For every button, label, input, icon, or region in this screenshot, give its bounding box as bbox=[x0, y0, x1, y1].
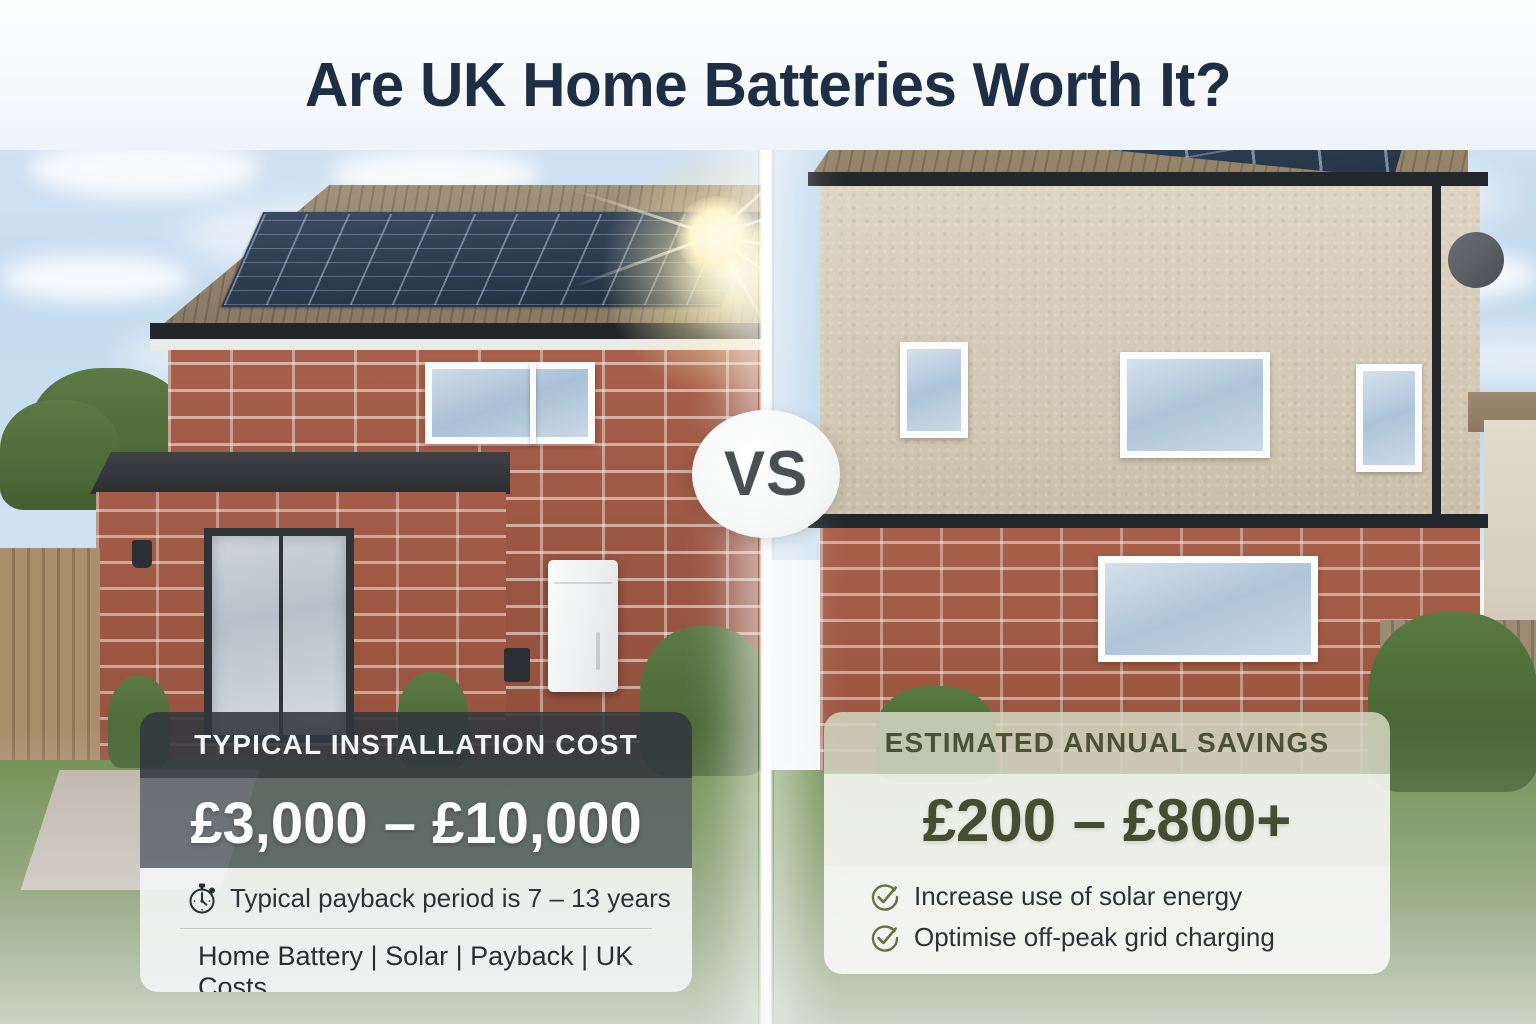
page-title: Are UK Home Batteries Worth It? bbox=[23, 50, 1513, 121]
installation-cost-value: £3,000 – £10,000 bbox=[190, 790, 642, 857]
annual-savings-header: ESTIMATED ANNUAL SAVINGS bbox=[824, 712, 1390, 774]
payback-note-row: Typical payback period is 7 – 13 years bbox=[140, 882, 692, 914]
right-lower-window bbox=[1098, 556, 1318, 662]
porch-roof bbox=[90, 452, 510, 494]
benefit-row: Optimise off-peak grid charging bbox=[824, 917, 1390, 958]
annual-savings-value-band: £200 – £800+ bbox=[824, 774, 1390, 866]
front-door bbox=[204, 528, 354, 743]
neighbour-house bbox=[1484, 420, 1536, 620]
installation-cost-header: TYPICAL INSTALLATION COST bbox=[140, 712, 692, 778]
right-window-1 bbox=[900, 342, 968, 438]
benefit-label: Increase use of solar energy bbox=[914, 881, 1242, 912]
check-circle-icon bbox=[870, 923, 900, 953]
vs-badge: VS bbox=[692, 410, 840, 538]
home-battery-unit bbox=[548, 560, 618, 692]
vs-label: VS bbox=[724, 438, 808, 510]
right-window-3 bbox=[1356, 364, 1422, 472]
payback-note-text: Typical payback period is 7 – 13 years bbox=[230, 883, 671, 914]
right-window-2 bbox=[1120, 352, 1270, 458]
annual-savings-value: £200 – £800+ bbox=[923, 786, 1292, 855]
battery-isolator-box bbox=[504, 648, 530, 682]
check-circle-icon bbox=[870, 882, 900, 912]
stopwatch-icon bbox=[188, 882, 218, 914]
installation-cost-footer: Typical payback period is 7 – 13 years H… bbox=[140, 868, 692, 992]
installation-cost-card: TYPICAL INSTALLATION COST £3,000 – £10,0… bbox=[140, 712, 692, 992]
annual-savings-card: ESTIMATED ANNUAL SAVINGS £200 – £800+ In… bbox=[824, 712, 1390, 974]
topic-tags: Home Battery | Solar | Payback | UK Cost… bbox=[140, 929, 692, 992]
infographic-canvas: Are UK Home Batteries Worth It? VS TYPIC… bbox=[0, 0, 1536, 1024]
wall-lamp-icon bbox=[132, 540, 152, 568]
installation-cost-value-band: £3,000 – £10,000 bbox=[140, 778, 692, 868]
annual-savings-footer: Increase use of solar energy Optimise of… bbox=[824, 866, 1390, 974]
annual-savings-heading: ESTIMATED ANNUAL SAVINGS bbox=[885, 727, 1330, 759]
benefit-label: Optimise off-peak grid charging bbox=[914, 922, 1275, 953]
benefit-row: Increase use of solar energy bbox=[824, 876, 1390, 917]
installation-cost-heading: TYPICAL INSTALLATION COST bbox=[194, 729, 638, 761]
left-upper-window bbox=[425, 362, 595, 444]
